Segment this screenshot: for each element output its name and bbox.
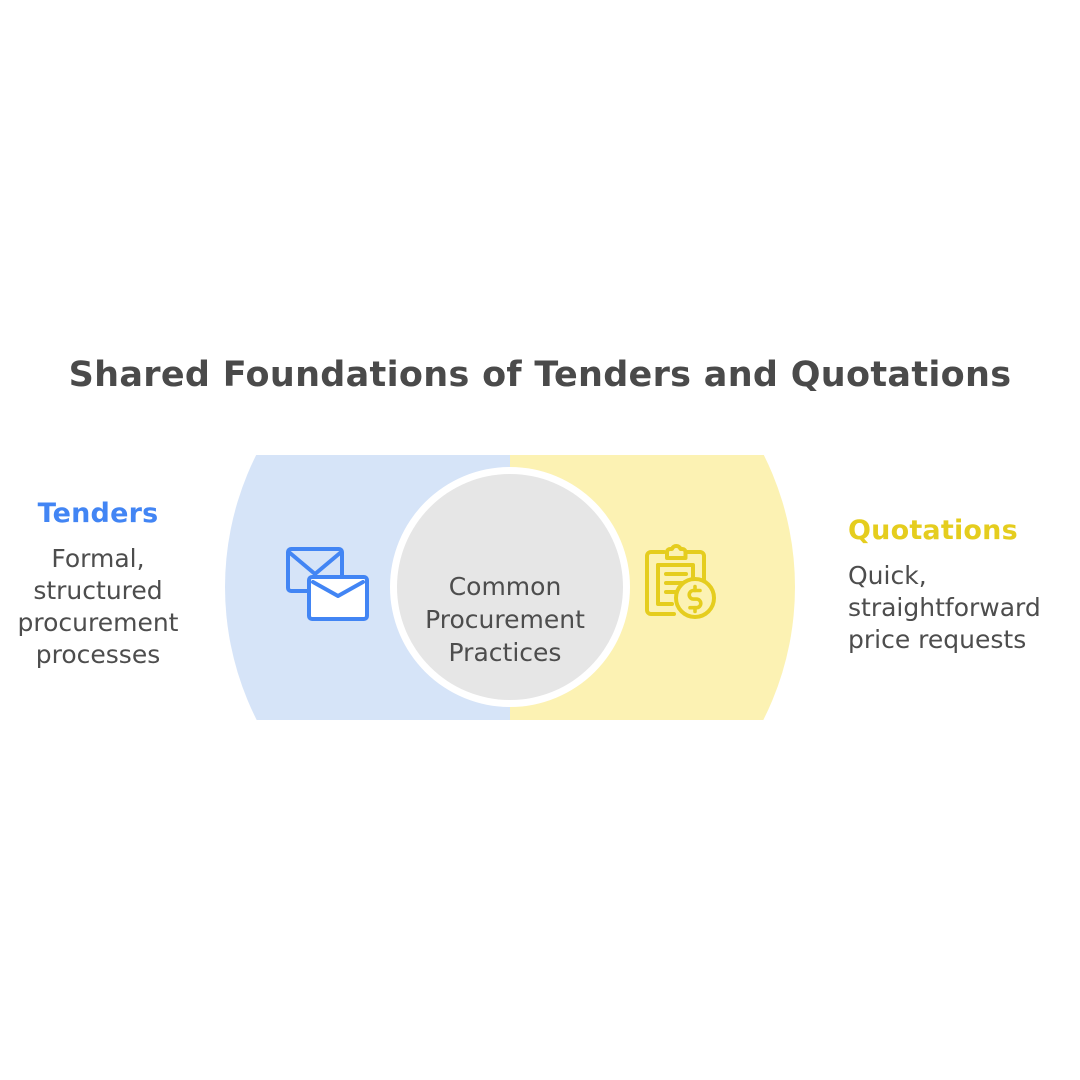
quotations-block: Quotations Quick, straightforward price … [848,515,1078,656]
overlap-label-line-3: Practices [405,636,605,669]
tenders-description-line-3: procurement [8,607,188,639]
quotations-description-line-3: price requests [848,624,1078,656]
overlap-label: Common Procurement Practices [405,570,605,669]
tenders-description-line-2: structured [8,575,188,607]
tenders-description: Formal, structured procurement processes [8,543,188,671]
quotations-description: Quick, straightforward price requests [848,560,1078,656]
tenders-description-line-4: processes [8,639,188,671]
quotations-heading: Quotations [848,515,1078,546]
overlap-label-line-2: Procurement [405,603,605,636]
quotations-description-line-1: Quick, [848,560,1078,592]
tenders-heading: Tenders [8,498,188,529]
tenders-description-line-1: Formal, [8,543,188,575]
envelopes-icon [283,543,373,623]
overlap-label-line-1: Common [405,570,605,603]
clipboard-dollar-icon [641,543,721,625]
tenders-block: Tenders Formal, structured procurement p… [8,498,188,671]
quotations-description-line-2: straightforward [848,592,1078,624]
diagram-canvas: Shared Foundations of Tenders and Quotat… [0,0,1080,1080]
page-title: Shared Foundations of Tenders and Quotat… [0,355,1080,395]
